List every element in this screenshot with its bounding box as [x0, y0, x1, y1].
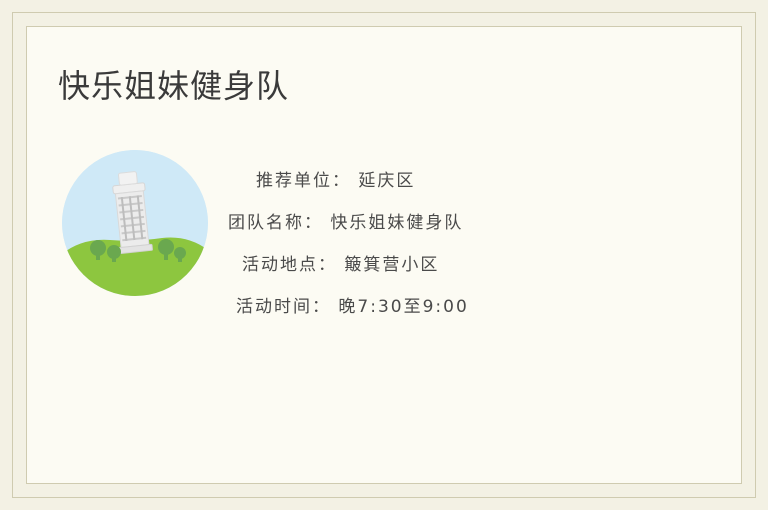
detail-row-location: 活动地点： 簸箕营小区 — [228, 244, 648, 286]
thumbnail-image — [62, 150, 208, 296]
detail-row-recommending-unit: 推荐单位： 延庆区 — [228, 160, 648, 202]
detail-row-team-name: 团队名称： 快乐姐妹健身队 — [228, 202, 648, 244]
page-title: 快乐姐妹健身队 — [58, 64, 289, 108]
document-page: 快乐姐妹健身队 — [0, 0, 768, 510]
event-details: 推荐单位： 延庆区 团队名称： 快乐姐妹健身队 活动地点： 簸箕营小区 活动时间… — [228, 160, 648, 328]
detail-row-time: 活动时间： 晚7:30至9:00 — [228, 286, 648, 328]
leaning-tower-icon — [62, 150, 208, 296]
